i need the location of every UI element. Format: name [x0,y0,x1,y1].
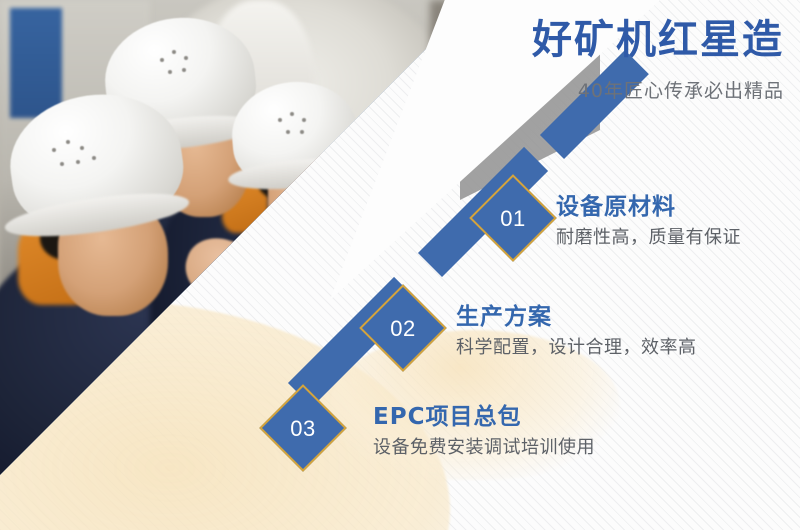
feature-title-01: 设备原材料 [556,193,741,222]
feature-desc-02: 科学配置，设计合理，效率高 [456,336,697,359]
feature-desc-01: 耐磨性高，质量有保证 [556,226,741,249]
feature-item-01: 设备原材料 耐磨性高，质量有保证 [556,193,741,249]
banner-header: 好矿机红星造 40年匠心传承必出精品 [532,18,784,103]
feature-title-03: EPC项目总包 [373,403,595,432]
feature-item-03: EPC项目总包 设备免费安装调试培训使用 [373,403,595,459]
feature-badge-number-02: 02 [372,300,434,362]
banner-subtitle: 40年匠心传承必出精品 [532,76,784,103]
promo-banner: 好矿机红星造 40年匠心传承必出精品 01 设备原材料 耐磨性高，质量有保证 0… [0,0,800,530]
feature-item-02: 生产方案 科学配置，设计合理，效率高 [456,303,697,359]
banner-title: 好矿机红星造 [532,18,784,62]
feature-title-02: 生产方案 [456,303,697,332]
feature-badge-number-01: 01 [482,190,544,252]
feature-desc-03: 设备免费安装调试培训使用 [373,436,595,459]
feature-badge-number-03: 03 [272,400,334,462]
